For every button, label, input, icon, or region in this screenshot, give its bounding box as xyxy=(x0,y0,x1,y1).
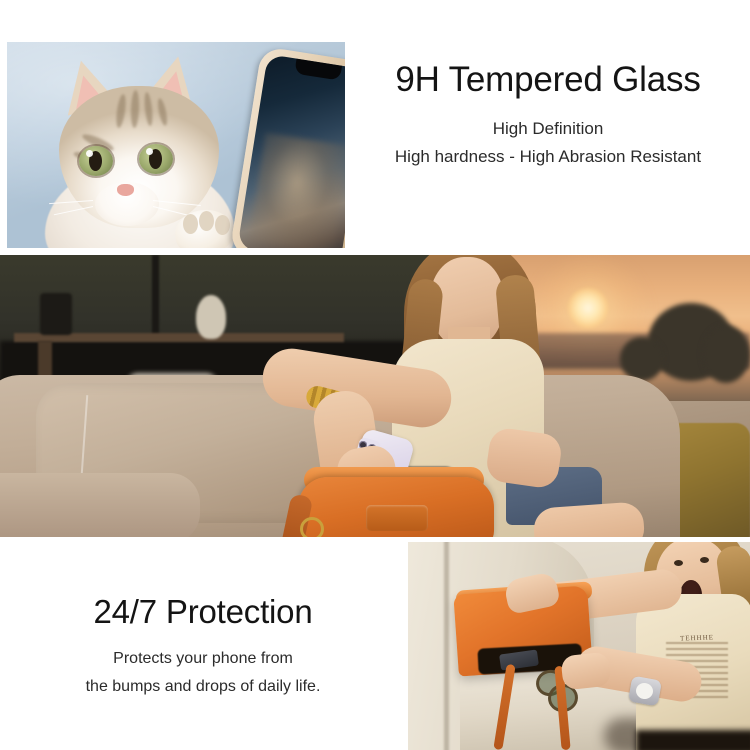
sofa-armrest xyxy=(0,473,200,537)
cat-toe xyxy=(199,211,214,231)
woman-placing-phone-in-bag-photo xyxy=(0,255,750,537)
protection-subline-1: Protects your phone from xyxy=(10,645,396,673)
bag-spill-photo: TEHHHE xyxy=(408,542,750,750)
shelf-jar-decor xyxy=(40,293,72,335)
setting-sun xyxy=(568,288,608,328)
spill-woman-hand-lower xyxy=(560,652,611,691)
protection-subline-2: the bumps and drops of daily life. xyxy=(10,673,396,701)
tempered-glass-headline: 9H Tempered Glass xyxy=(352,60,744,99)
handbag-front-tab xyxy=(366,505,428,531)
cat-toe xyxy=(215,215,230,235)
floor-shadow xyxy=(636,730,750,750)
top-right-text-block: 9H Tempered Glass High Definition High h… xyxy=(352,60,744,171)
chair-seam xyxy=(444,542,449,750)
bottom-left-text-block: 24/7 Protection Protects your phone from… xyxy=(10,594,396,702)
cat-eye-glint-right xyxy=(146,148,153,155)
cat-toe xyxy=(183,214,198,234)
cat-with-phone-photo xyxy=(7,42,345,248)
cat-nose xyxy=(117,184,134,196)
marketing-graphic-page: 9H Tempered Glass High Definition High h… xyxy=(0,0,750,750)
tempered-glass-subline-2: High hardness - High Abrasion Resistant xyxy=(352,143,744,171)
floor-lamp-pole xyxy=(152,255,159,335)
handbag-hardware-ring xyxy=(300,517,324,537)
tempered-glass-subline-1: High Definition xyxy=(352,115,744,143)
screen-reflection xyxy=(249,133,345,248)
smartphone-notch xyxy=(294,59,342,81)
protection-headline: 24/7 Protection xyxy=(10,594,396,631)
spill-woman-eye-left xyxy=(674,560,683,566)
shelf-vase-decor xyxy=(196,295,226,339)
cat-eye-glint-left xyxy=(86,150,93,157)
spill-woman-eye-right xyxy=(700,557,709,563)
tree-silhouette xyxy=(702,325,750,383)
